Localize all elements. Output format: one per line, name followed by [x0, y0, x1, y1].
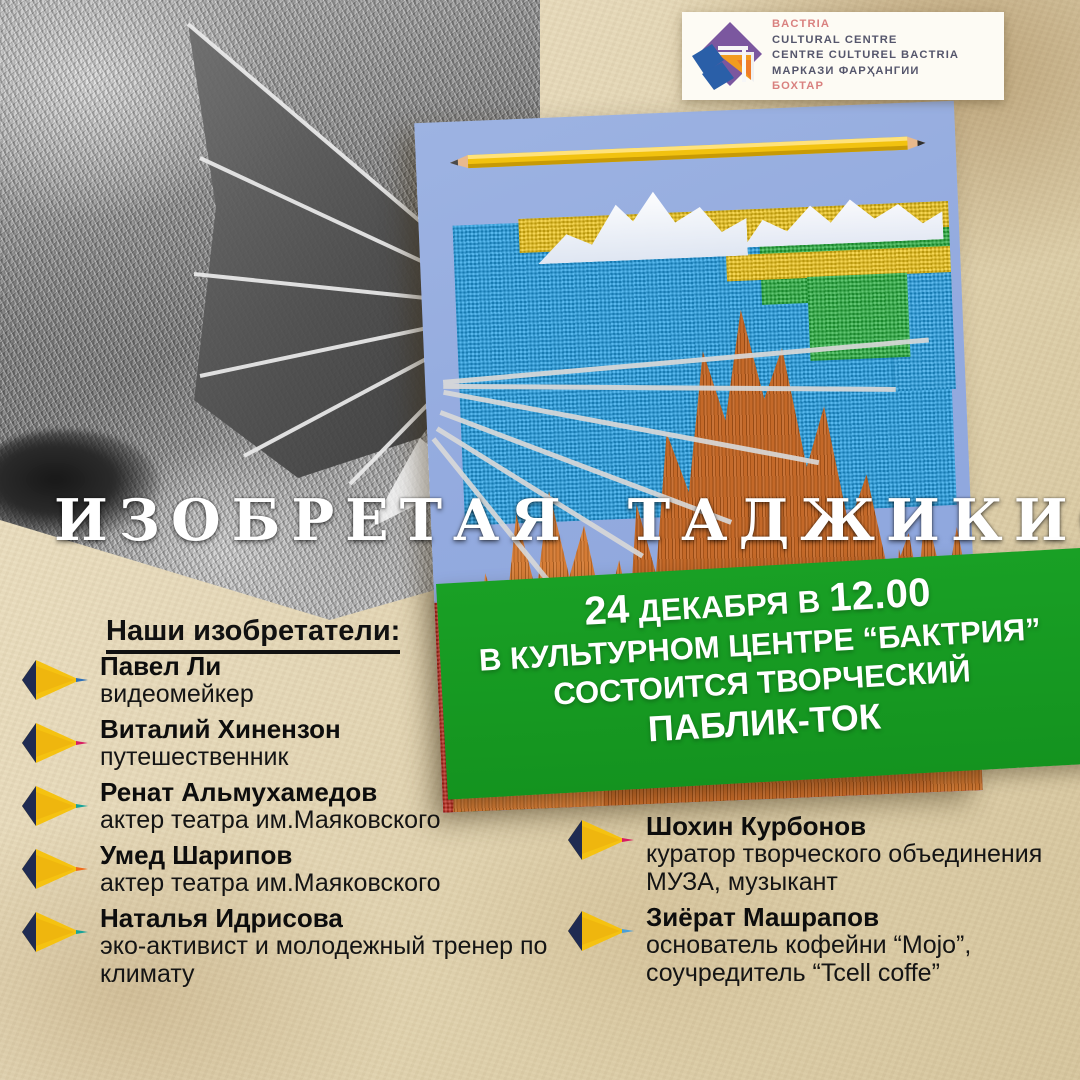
inventors-column-right: Шохин Курбонов куратор творческого объед…: [562, 812, 1080, 994]
title-word-1: ИЗОБРЕТАЯ: [54, 487, 572, 554]
bactria-logo-card[interactable]: BACTRIA CULTURAL CENTRE CENTRE CULTUREL …: [682, 12, 1004, 100]
bactria-diamond-icon: [682, 12, 770, 100]
list-item: Зиёрат Машрапов основатель кофейни “Mojo…: [562, 903, 1080, 987]
logo-line-cultural-centre: CULTURAL CENTRE: [772, 33, 959, 48]
poster-root: ИЗОБРЕТАЯТАДЖИКИСТАН 24 ДЕКАБРЯ В 12.00 …: [0, 0, 1080, 1080]
pencil-bullet-icon: [16, 845, 90, 893]
person-role: путешественник: [100, 743, 564, 771]
event-day: 24: [583, 587, 630, 633]
person-name: Павел Ли: [100, 652, 564, 680]
list-item: Ренат Альмухамедов актер театра им.Маяко…: [16, 778, 564, 834]
inventors-column-left: Павел Ли видеомейкер Виталий Хинензон пу…: [16, 652, 564, 995]
person-name: Ренат Альмухамедов: [100, 778, 564, 806]
list-item: Виталий Хинензон путешественник: [16, 715, 564, 771]
person-text: Виталий Хинензон путешественник: [100, 715, 564, 771]
person-name: Виталий Хинензон: [100, 715, 564, 743]
page-title: ИЗОБРЕТАЯТАДЖИКИСТАН: [0, 487, 1054, 554]
person-text: Умед Шарипов актер театра им.Маяковского: [100, 841, 564, 897]
pencil-bullet-icon: [562, 816, 636, 864]
person-role: актер театра им.Маяковского: [100, 869, 564, 897]
person-role: куратор творческого объединения МУЗА, му…: [646, 840, 1080, 896]
person-text: Наталья Идрисова эко-активист и молодежн…: [100, 904, 564, 988]
clay-green-block-2: [807, 273, 910, 361]
list-item: Шохин Курбонов куратор творческого объед…: [562, 812, 1080, 896]
person-text: Шохин Курбонов куратор творческого объед…: [646, 812, 1080, 896]
person-name: Шохин Курбонов: [646, 812, 1080, 840]
person-name: Зиёрат Машрапов: [646, 903, 1080, 931]
person-text: Павел Ли видеомейкер: [100, 652, 564, 708]
list-item: Павел Ли видеомейкер: [16, 652, 564, 708]
title-word-2: ТАДЖИКИСТАН: [628, 487, 1080, 554]
yellow-pencil-icon: [449, 132, 930, 174]
inventors-heading: Наши изобретатели:: [106, 615, 400, 654]
logo-line-bokhtar: БОХТАР: [772, 79, 959, 94]
list-item: Умед Шарипов актер театра им.Маяковского: [16, 841, 564, 897]
person-role: основатель кофейни “Mojo”, соучредитель …: [646, 931, 1080, 987]
logo-line-bactria: BACTRIA: [772, 17, 959, 32]
logo-line-markazi: МАРКАЗИ ФАРҲАНГИИ: [772, 64, 959, 79]
pencil-bullet-icon: [16, 908, 90, 956]
event-time: 12.00: [828, 570, 932, 620]
person-role: эко-активист и молодежный тренер по клим…: [100, 932, 564, 988]
logo-text-block: BACTRIA CULTURAL CENTRE CENTRE CULTUREL …: [770, 17, 959, 94]
pencil-bullet-icon: [16, 782, 90, 830]
person-name: Наталья Идрисова: [100, 904, 564, 932]
person-text: Ренат Альмухамедов актер театра им.Маяко…: [100, 778, 564, 834]
person-role: актер театра им.Маяковского: [100, 806, 564, 834]
logo-line-centre-culturel: CENTRE CULTUREL BACTRIA: [772, 48, 959, 63]
person-name: Умед Шарипов: [100, 841, 564, 869]
person-text: Зиёрат Машрапов основатель кофейни “Mojo…: [646, 903, 1080, 987]
event-month: ДЕКАБРЯ В: [637, 584, 821, 629]
pencil-bullet-icon: [16, 656, 90, 704]
list-item: Наталья Идрисова эко-активист и молодежн…: [16, 904, 564, 988]
pencil-bullet-icon: [562, 907, 636, 955]
pencil-bullet-icon: [16, 719, 90, 767]
person-role: видеомейкер: [100, 680, 564, 708]
